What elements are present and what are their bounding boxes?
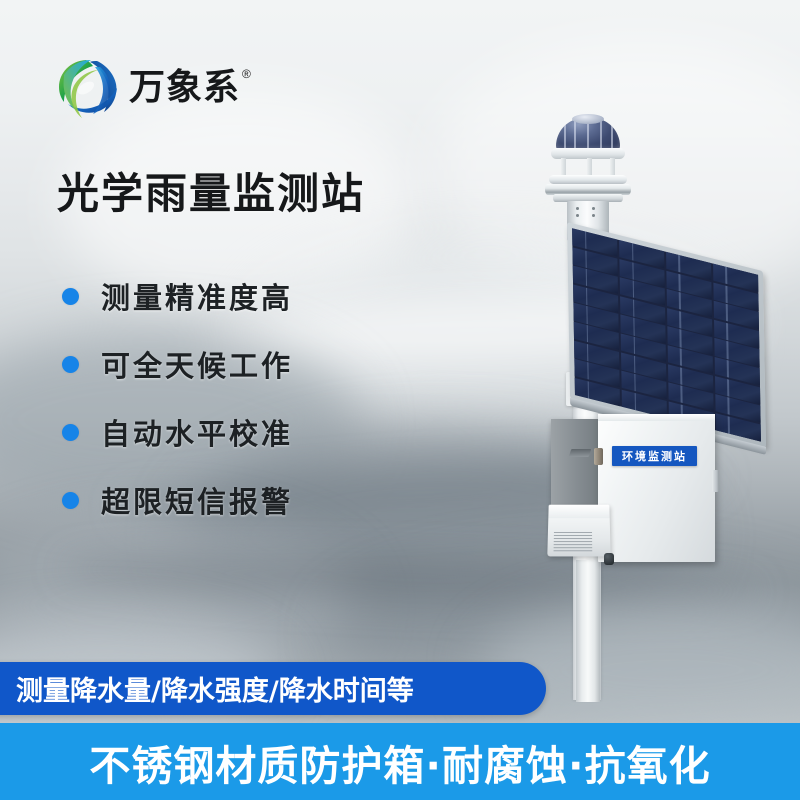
page-title: 光学雨量监测站 [57, 170, 365, 218]
enclosure-nameplate-text: 环境监测站 [622, 448, 687, 464]
enclosure-sub-module [547, 505, 610, 557]
feature-label: 自动水平校准 [101, 411, 293, 453]
registered-trademark-icon: ® [242, 68, 251, 80]
bullet-dot-icon [62, 356, 79, 373]
enclosure-latch [712, 470, 719, 492]
measurement-banner: 测量降水量/降水强度/降水时间等 [0, 662, 546, 715]
feature-item: 测量精准度高 [62, 262, 392, 330]
enclosure-nameplate: 环境监测站 [612, 446, 697, 466]
sensor-cap [572, 114, 604, 124]
enclosure-hinge [594, 448, 603, 465]
optical-rain-sensor [543, 118, 633, 218]
bottom-tagline-text: 不锈钢材质防护箱·耐腐蚀·抗氧化 [89, 732, 710, 792]
equipment-enclosure [598, 414, 715, 562]
product-banner: 环境监测站 [0, 0, 800, 800]
sub-module-top [548, 505, 609, 518]
feature-label: 测量精准度高 [101, 275, 293, 317]
measurement-banner-text: 测量降水量/降水强度/降水时间等 [16, 669, 414, 708]
bullet-dot-icon [62, 492, 79, 509]
brand-logo: 万象系 ® [56, 57, 251, 119]
bullet-dot-icon [62, 288, 79, 305]
globe-swirl-icon [56, 57, 120, 119]
feature-item: 可全天候工作 [62, 330, 392, 398]
sub-module-louvers [554, 532, 593, 552]
brand-name: 万象系 [129, 70, 240, 106]
feature-label: 超限短信报警 [101, 479, 293, 521]
bottom-tagline-bar: 不锈钢材质防护箱·耐腐蚀·抗氧化 [0, 723, 800, 800]
sensor-disc [549, 175, 627, 184]
enclosure-knob [604, 553, 614, 565]
feature-item: 自动水平校准 [62, 398, 392, 466]
mounting-mast-lower [576, 560, 600, 702]
feature-label: 可全天候工作 [101, 343, 293, 385]
feature-list: 测量精准度高 可全天候工作 自动水平校准 超限短信报警 [62, 262, 392, 534]
feature-item: 超限短信报警 [62, 466, 392, 534]
enclosure-vent [569, 449, 592, 457]
bullet-dot-icon [62, 424, 79, 441]
